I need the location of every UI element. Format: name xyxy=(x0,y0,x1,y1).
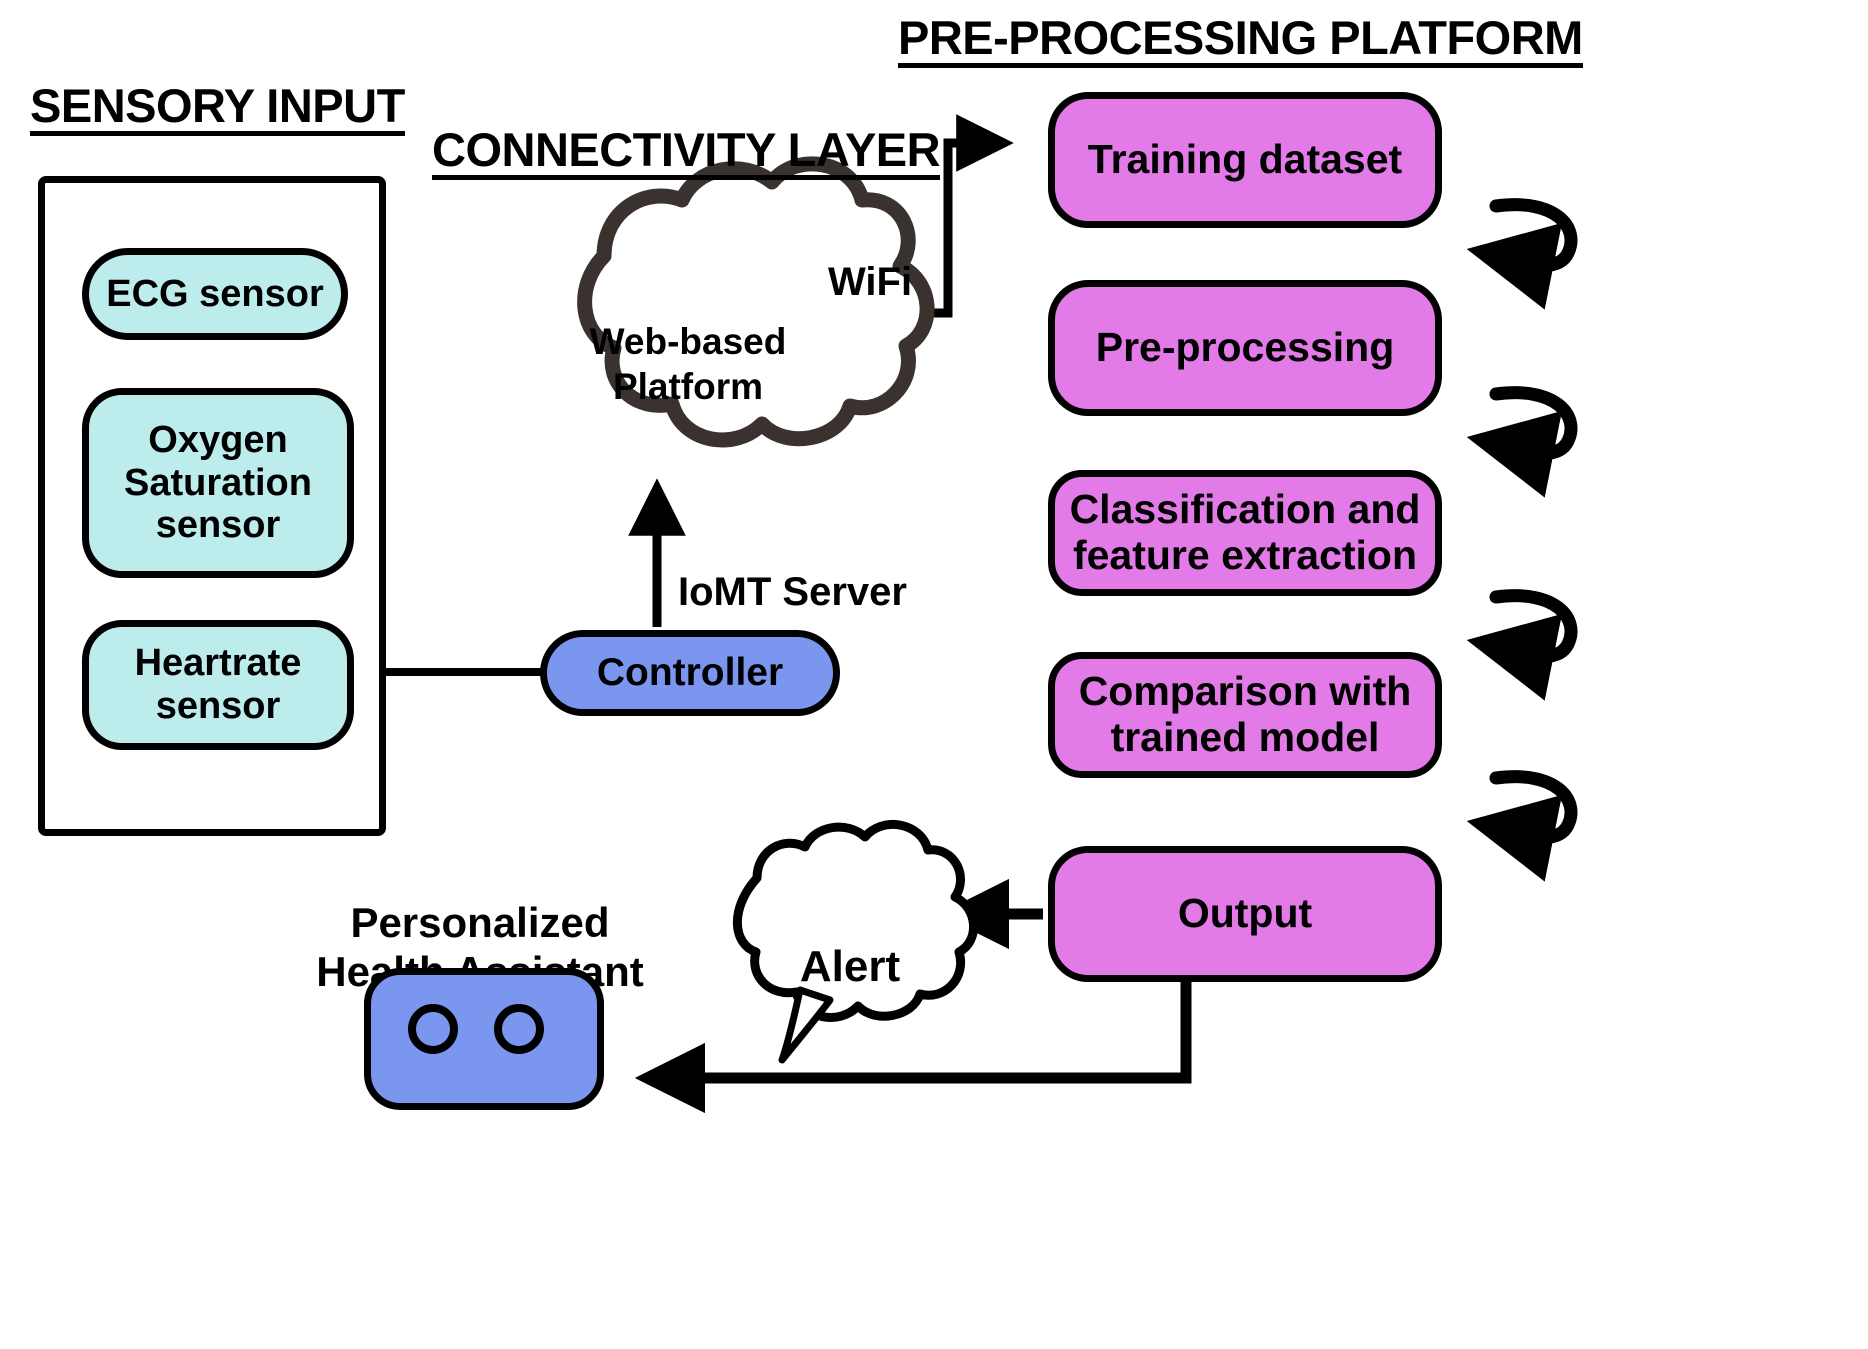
pipeline-node-pre-processing-label: Pre-processing xyxy=(1096,325,1395,371)
iomt-server-label-text: IoMT Server xyxy=(678,570,907,614)
controller-node[interactable]: Controller xyxy=(540,630,840,716)
pipeline-node-training-dataset[interactable]: Training dataset xyxy=(1048,92,1442,228)
pipeline-node-classification[interactable]: Classification and feature extraction xyxy=(1048,470,1442,596)
pipeline-loop-arrow-2 xyxy=(1482,393,1571,454)
heading-sensory-input-text: SENSORY INPUT xyxy=(30,79,405,132)
assistant-eye-right xyxy=(494,1004,544,1054)
alert-label-text: Alert xyxy=(800,942,900,991)
web-platform-label: Web-based Platform xyxy=(568,276,808,409)
heading-sensory-input: SENSORY INPUT xyxy=(30,82,405,136)
pipeline-node-classification-label: Classification and feature extraction xyxy=(1070,487,1421,579)
web-platform-label-text: Web-based Platform xyxy=(590,321,787,406)
sensor-node-ecg[interactable]: ECG sensor xyxy=(82,248,348,340)
pipeline-node-training-dataset-label: Training dataset xyxy=(1088,137,1402,183)
pipeline-node-pre-processing[interactable]: Pre-processing xyxy=(1048,280,1442,416)
sensor-node-heartrate[interactable]: Heartrate sensor xyxy=(82,620,354,750)
sensor-node-oxygen-saturation[interactable]: Oxygen Saturation sensor xyxy=(82,388,354,578)
alert-label: Alert xyxy=(760,888,940,994)
sensor-node-oxygen-saturation-label: Oxygen Saturation sensor xyxy=(124,419,312,547)
sensor-node-ecg-label: ECG sensor xyxy=(106,273,324,316)
pipeline-node-comparison-label: Comparison with trained model xyxy=(1079,669,1412,761)
sensor-node-heartrate-label: Heartrate sensor xyxy=(135,642,302,727)
wifi-label-text: WiFi xyxy=(828,260,912,304)
controller-node-label: Controller xyxy=(597,651,783,695)
heading-preprocessing-platform: PRE-PROCESSING PLATFORM xyxy=(898,14,1583,68)
heading-preprocessing-platform-text: PRE-PROCESSING PLATFORM xyxy=(898,11,1583,64)
iomt-server-label: IoMT Server xyxy=(678,522,938,616)
pipeline-node-comparison[interactable]: Comparison with trained model xyxy=(1048,652,1442,778)
pipeline-loop-arrow-4 xyxy=(1482,777,1571,838)
assistant-eye-left xyxy=(408,1004,458,1054)
diagram-canvas: SENSORY INPUT CONNECTIVITY LAYER PRE-PRO… xyxy=(0,0,1868,1349)
heading-connectivity-layer: CONNECTIVITY LAYER xyxy=(432,126,940,180)
heading-connectivity-layer-text: CONNECTIVITY LAYER xyxy=(432,123,940,176)
wifi-label: WiFi xyxy=(828,212,948,306)
pipeline-node-output-label: Output xyxy=(1178,891,1312,937)
pipeline-loop-arrow-1 xyxy=(1482,205,1571,266)
pipeline-loop-arrow-3 xyxy=(1482,596,1571,657)
assistant-robot-face[interactable] xyxy=(364,968,604,1110)
pipeline-node-output[interactable]: Output xyxy=(1048,846,1442,982)
